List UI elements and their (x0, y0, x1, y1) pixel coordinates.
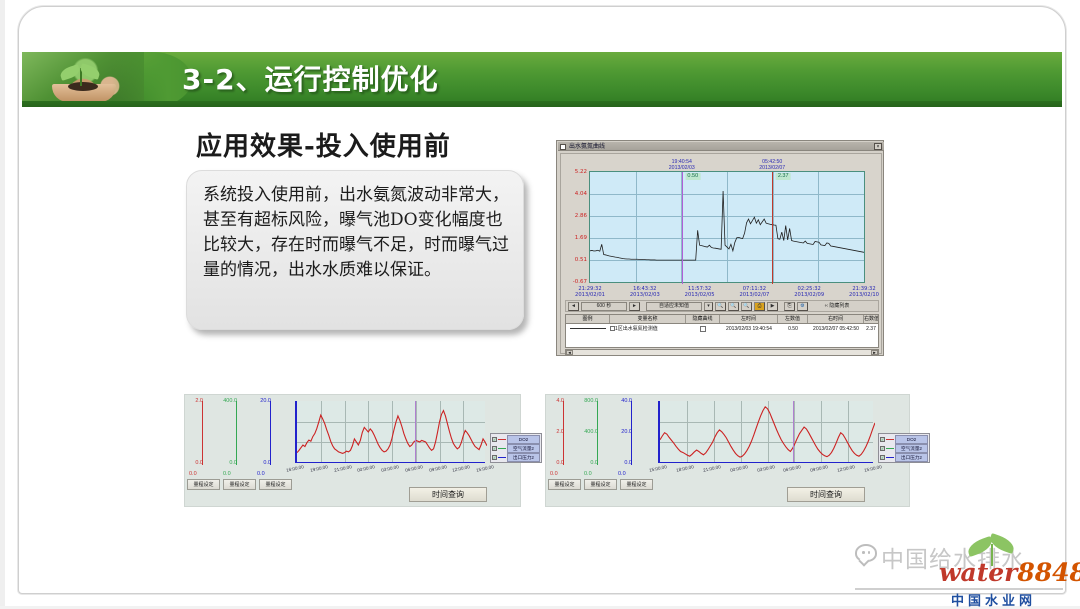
window-icon (560, 144, 566, 150)
scroll-left-arrow-icon[interactable]: ◄ (566, 350, 573, 355)
trend-graph (658, 401, 873, 463)
cell-right-value: 2.37 (864, 324, 878, 334)
axis-current-value: 0.0 (550, 471, 558, 477)
legend-checkbox[interactable]: ✓ (492, 455, 497, 460)
close-icon[interactable]: × (874, 143, 882, 150)
variable-table: 图例 变量名称 隐藏曲线 左时间 左数值 右时间 右数值 1区出水氨氮检测值 2… (565, 314, 879, 348)
y-axis-tick: 0.51 (575, 257, 587, 263)
range-setting-button[interactable]: 量程设定 (620, 479, 653, 490)
page-title: 3-2、运行控制优化 (182, 58, 439, 98)
trend-cursor-line[interactable] (415, 401, 416, 462)
trend-panel-right: 4.02.00.00.0量程设定800.0400.00.00.0量程设定40.0… (545, 394, 910, 507)
scada-toolbar: ◄ 600 秒 ► 自适应未知值 ▾ 🔍 🔍 🔍 ⎙ ▶ ⎘ ⚙ ‹‹ 隐藏列表 (565, 300, 879, 312)
legend-label: 空气流量2 (895, 444, 928, 453)
cell-variable: 1区出水氨氮检测值 (610, 324, 686, 334)
trend-x-tick: 15:00:00 (864, 464, 883, 473)
scada-window: 出水氨氮曲线 × 5.224.042.861.690.51-0.6721:29:… (556, 140, 884, 356)
legend-checkbox[interactable]: ✓ (492, 446, 497, 451)
col-variable: 变量名称 (610, 315, 686, 323)
do2-series-line (660, 401, 875, 463)
y-axis-tick: 2.86 (575, 213, 587, 219)
y-axis-tick: -0.67 (573, 279, 587, 285)
zoom-in-icon[interactable]: 🔍 (715, 302, 726, 311)
soil-shape (68, 82, 98, 91)
section-subtitle: 应用效果-投入使用前 (196, 126, 451, 163)
photo-fade-overlay (112, 52, 192, 107)
step-back-button[interactable]: ◄ (568, 302, 579, 311)
table-row[interactable]: 1区出水氨氮检测值 2013/02/03 19:40:54 0.50 2013/… (566, 324, 878, 334)
legend-line-swatch (570, 328, 606, 329)
legend-color-swatch (498, 448, 506, 449)
axis-min-label: 0.0 (229, 460, 237, 466)
col-legend: 图例 (566, 315, 610, 323)
legend-item[interactable]: ✓空气流量2 (880, 444, 928, 452)
variable-name: 1区出水氨氮检测值 (615, 326, 658, 332)
axis-mid-label: 400.0 (584, 429, 598, 435)
time-query-button[interactable]: 时间查询 (787, 487, 865, 502)
horizontal-scrollbar[interactable]: ◄ ► (565, 349, 879, 356)
legend-checkbox[interactable]: ✓ (492, 437, 497, 442)
legend-item[interactable]: ✓出口压力2 (492, 453, 540, 461)
legend-label: DO2 (895, 435, 928, 444)
x-axis-tick: 21:29:322013/02/01 (575, 286, 605, 298)
wechat-icon (855, 544, 877, 562)
ammonia-chart-plot: 5.224.042.861.690.51-0.6721:29:322013/02… (589, 171, 865, 283)
axis-min-label: 0.0 (195, 460, 203, 466)
footer-watermark: 中国给水排水 water8848.com 中国水业网 (855, 534, 1075, 598)
sprout-leaf-left-icon (59, 64, 81, 81)
col-right-time: 右时间 (808, 315, 864, 323)
table-header-row: 图例 变量名称 隐藏曲线 左时间 左数值 右时间 右数值 (566, 315, 878, 324)
legend-item[interactable]: ✓空气流量2 (492, 444, 540, 452)
scroll-right-arrow-icon[interactable]: ► (871, 350, 878, 355)
header-band: 3-2、运行控制优化 (22, 52, 1062, 107)
trend-graph (295, 401, 485, 463)
scale-mode-select[interactable]: 自适应未知值 (646, 302, 702, 311)
axis-line (236, 401, 237, 465)
legend-item[interactable]: ✓DO2 (880, 435, 928, 443)
cursor-value: 0.50 (685, 173, 700, 180)
trend-x-tick: 00:00:00 (357, 464, 376, 473)
legend-label: 空气流量2 (507, 444, 540, 453)
axis-mid-label: 2.0 (556, 429, 564, 435)
legend-label: 出口压力2 (895, 453, 928, 462)
scada-titlebar: 出水氨氮曲线 × (558, 142, 884, 151)
trend-x-tick: 09:00:00 (810, 464, 829, 473)
cell-left-time: 2013/02/03 19:40:54 (720, 324, 778, 334)
do2-series-line (297, 401, 487, 463)
axis-current-value: 0.0 (223, 471, 231, 477)
axis-min-label: 0.0 (624, 460, 632, 466)
cursor-line[interactable] (682, 172, 683, 284)
zoom-selection-icon[interactable]: 🔍 (741, 302, 752, 311)
trend-cursor-line[interactable] (793, 401, 794, 462)
col-left-time: 左时间 (720, 315, 778, 323)
legend-item[interactable]: ✓出口压力2 (880, 453, 928, 461)
trend-x-tick: 16:00:00 (286, 464, 305, 473)
legend-checkbox[interactable]: ✓ (880, 446, 885, 451)
legend-label: 出口压力2 (507, 453, 540, 462)
y-axis-tick: 1.69 (575, 235, 587, 241)
axis-min-label: 0.0 (263, 460, 271, 466)
cell-left-value: 0.50 (778, 324, 808, 334)
range-setting-button[interactable]: 量程设定 (259, 479, 292, 490)
trend-legend: ✓DO2✓空气流量2✓出口压力2 (878, 433, 930, 463)
cursor-value: 2.37 (776, 173, 791, 180)
range-setting-button[interactable]: 量程设定 (548, 479, 581, 490)
trend-x-tick: 19:00:00 (309, 464, 328, 473)
zoom-out-icon[interactable]: 🔍 (728, 302, 739, 311)
axis-line (202, 401, 203, 465)
trend-x-tick: 06:00:00 (783, 464, 802, 473)
slide-root: 3-2、运行控制优化 应用效果-投入使用前 系统投入使用前，出水氨氮波动非常大，… (0, 0, 1080, 606)
col-left-value: 左数值 (778, 315, 808, 323)
trend-x-tick: 15:00:00 (476, 464, 495, 473)
export-icon[interactable]: ⎘ (784, 302, 795, 311)
cursor-line[interactable] (772, 172, 773, 284)
legend-color-swatch (886, 439, 894, 440)
trend-x-tick: 06:00:00 (404, 464, 423, 473)
ammonia-series-line (590, 172, 864, 282)
range-setting-button[interactable]: 量程设定 (223, 479, 256, 490)
chevron-down-icon[interactable]: ▾ (704, 302, 713, 311)
settings-gear-icon[interactable]: ⚙ (797, 302, 808, 311)
axis-max-label: 2.0 (195, 398, 203, 404)
trend-x-tick: 21:00:00 (702, 464, 721, 473)
axis-min-label: 0.0 (556, 460, 564, 466)
axis-line (270, 401, 271, 465)
cursor-timestamp: 19:40:542013/02/03 (669, 159, 695, 171)
axis-current-value: 0.0 (618, 471, 626, 477)
axis-mid-label: 20.0 (621, 429, 632, 435)
footer-subbrand: 中国水业网 (951, 590, 1036, 609)
trend-x-tick: 03:00:00 (381, 464, 400, 473)
axis-current-value: 0.0 (189, 471, 197, 477)
callout-text: 系统投入使用前，出水氨氮波动非常大，甚至有超标风险，曝气池DO变化幅度也比较大，… (203, 183, 509, 283)
trend-x-tick: 12:00:00 (837, 464, 856, 473)
footer-logo-word: water (939, 558, 1017, 587)
trend-x-tick: 03:00:00 (756, 464, 775, 473)
trend-x-tick: 18:00:00 (676, 464, 695, 473)
legend-item[interactable]: ✓DO2 (492, 435, 540, 443)
trend-x-tick: 21:00:00 (333, 464, 352, 473)
legend-color-swatch (886, 448, 894, 449)
axis-min-label: 0.0 (590, 460, 598, 466)
axis-max-label: 20.0 (260, 398, 271, 404)
y-axis-tick: 4.04 (575, 191, 587, 197)
time-query-button[interactable]: 时间查询 (409, 487, 487, 502)
callout-box: 系统投入使用前，出水氨氮波动非常大，甚至有超标风险，曝气池DO变化幅度也比较大，… (186, 170, 524, 330)
y-axis-tick: 5.22 (575, 169, 587, 175)
footer-logo: water8848.com (939, 558, 1080, 587)
trend-legend: ✓DO2✓空气流量2✓出口压力2 (490, 433, 542, 463)
legend-checkbox[interactable]: ✓ (880, 437, 885, 442)
axis-max-label: 40.0 (621, 398, 632, 404)
x-axis-tick: 07:11:322013/02/07 (739, 286, 769, 298)
trend-x-tick: 12:00:00 (452, 464, 471, 473)
slide-left-edge (0, 0, 5, 606)
trend-x-tick: 15:00:00 (649, 464, 668, 473)
col-right-value: 右数值 (864, 315, 878, 323)
col-hidden: 隐藏曲线 (686, 315, 720, 323)
x-axis-tick: 02:25:322013/02/09 (794, 286, 824, 298)
scada-window-title: 出水氨氮曲线 (569, 142, 605, 151)
scada-body: 5.224.042.861.690.51-0.6721:29:322013/02… (560, 153, 882, 354)
interval-field[interactable]: 600 秒 (581, 302, 627, 311)
print-icon[interactable]: ⎙ (754, 302, 765, 311)
range-setting-button[interactable]: 量程设定 (584, 479, 617, 490)
step-forward-button[interactable]: ► (629, 302, 640, 311)
legend-checkbox[interactable]: ✓ (880, 455, 885, 460)
cell-hidden (686, 324, 720, 334)
x-axis-tick: 11:57:322013/02/05 (685, 286, 715, 298)
legend-color-swatch (498, 457, 506, 458)
cell-right-time: 2013/02/07 05:42:50 (808, 324, 864, 334)
play-icon[interactable]: ▶ (767, 302, 778, 311)
trend-x-tick: 09:00:00 (428, 464, 447, 473)
hide-list-button[interactable]: ‹‹ 隐藏列表 (814, 302, 860, 311)
axis-current-value: 0.0 (257, 471, 265, 477)
cell-legend (566, 324, 610, 334)
range-setting-button[interactable]: 量程设定 (187, 479, 220, 490)
legend-label: DO2 (507, 435, 540, 444)
x-axis-tick: 16:43:322013/02/03 (630, 286, 660, 298)
hide-curve-checkbox[interactable] (700, 326, 706, 332)
axis-current-value: 0.0 (584, 471, 592, 477)
sprout-leaf-right-icon (79, 63, 101, 80)
axis-max-label: 400.0 (223, 398, 237, 404)
trend-panel-left: 2.00.00.0量程设定400.00.00.0量程设定20.00.00.0量程… (184, 394, 521, 507)
legend-color-swatch (498, 439, 506, 440)
legend-color-swatch (886, 457, 894, 458)
x-axis-tick: 21:39:322013/02/10 (849, 286, 879, 298)
axis-max-label: 4.0 (556, 398, 564, 404)
cursor-timestamp: 05:42:502013/02/07 (759, 159, 785, 171)
footer-logo-number: 8848 (1017, 558, 1080, 587)
trend-x-tick: 00:00:00 (729, 464, 748, 473)
axis-max-label: 800.0 (584, 398, 598, 404)
